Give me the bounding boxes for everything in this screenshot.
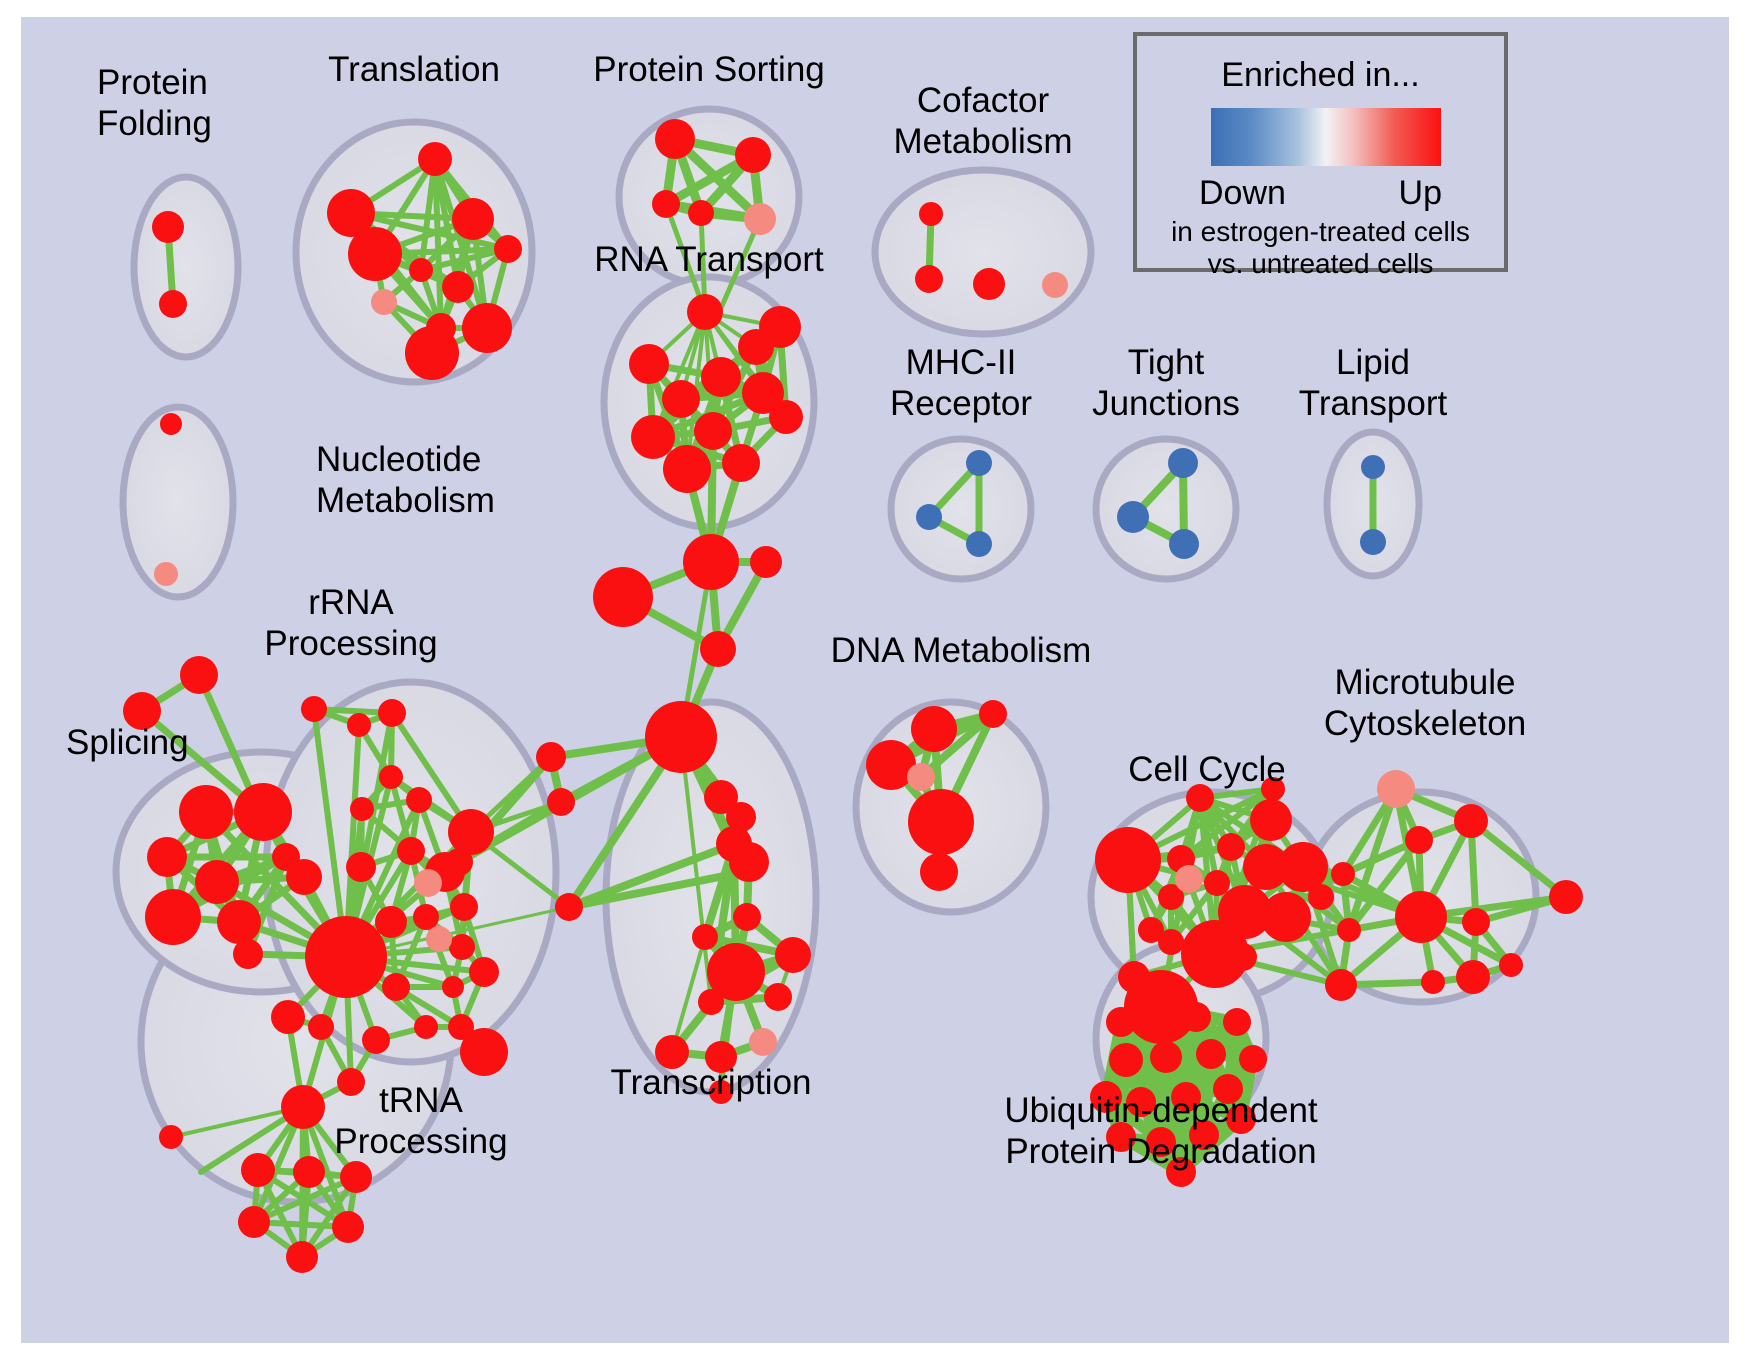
node bbox=[694, 412, 732, 450]
cluster-label-microtubule-cytoskeleton: Microtubule Cytoskeleton bbox=[1324, 662, 1526, 744]
node bbox=[631, 415, 675, 459]
cluster-label-transcription: Transcription bbox=[611, 1062, 812, 1103]
node bbox=[698, 989, 724, 1015]
node bbox=[722, 444, 760, 482]
node bbox=[1308, 884, 1334, 910]
cluster-ellipse-protein-folding bbox=[134, 177, 238, 357]
node bbox=[908, 789, 974, 855]
node bbox=[735, 137, 771, 173]
node bbox=[414, 869, 442, 897]
node bbox=[1261, 892, 1311, 942]
node bbox=[915, 265, 943, 293]
node bbox=[701, 357, 741, 397]
node bbox=[1325, 969, 1357, 1001]
node bbox=[179, 785, 233, 839]
node bbox=[414, 1015, 438, 1039]
node bbox=[1456, 960, 1490, 994]
node bbox=[1395, 891, 1447, 943]
cluster-ellipse-mhc-ii-receptor bbox=[891, 439, 1031, 579]
node bbox=[305, 916, 387, 998]
node bbox=[1360, 529, 1386, 555]
node bbox=[1117, 501, 1149, 533]
node bbox=[301, 696, 327, 722]
node bbox=[919, 202, 943, 226]
node bbox=[733, 903, 761, 931]
node bbox=[160, 413, 182, 435]
node bbox=[426, 926, 452, 952]
node bbox=[362, 1026, 390, 1054]
node bbox=[450, 893, 478, 921]
node bbox=[775, 937, 811, 973]
node bbox=[405, 326, 459, 380]
node bbox=[688, 200, 714, 226]
node bbox=[1250, 799, 1292, 841]
node bbox=[159, 1125, 183, 1149]
node bbox=[700, 631, 736, 667]
legend-down-label: Down bbox=[1199, 174, 1286, 213]
node bbox=[1106, 1007, 1136, 1037]
node bbox=[1549, 880, 1583, 914]
node bbox=[1361, 455, 1385, 479]
node bbox=[348, 227, 402, 281]
node bbox=[687, 294, 723, 330]
node bbox=[1499, 953, 1523, 977]
node bbox=[749, 1028, 777, 1056]
node bbox=[418, 142, 452, 176]
node bbox=[332, 1211, 364, 1243]
cluster-label-dna-metabolism: DNA Metabolism bbox=[831, 630, 1092, 671]
node bbox=[907, 763, 935, 791]
node bbox=[442, 271, 474, 303]
node bbox=[1405, 826, 1433, 854]
figure-canvas: Protein Folding Translation Protein Sort… bbox=[0, 0, 1750, 1360]
cluster-label-protein-folding: Protein Folding bbox=[97, 62, 212, 144]
cluster-label-mhc-ii-receptor: MHC-II Receptor bbox=[890, 342, 1032, 424]
cluster-label-lipid-transport: Lipid Transport bbox=[1299, 342, 1447, 424]
node bbox=[375, 906, 407, 938]
node bbox=[916, 504, 942, 530]
legend-subtitle-line2: vs. untreated cells bbox=[1137, 248, 1504, 280]
node bbox=[1462, 908, 1490, 936]
network-plot-area: Protein Folding Translation Protein Sort… bbox=[21, 17, 1729, 1343]
legend-box: Enriched in... Down Up in estrogen-treat… bbox=[1133, 32, 1508, 272]
node bbox=[347, 713, 371, 737]
node bbox=[469, 957, 499, 987]
node bbox=[1150, 1041, 1182, 1073]
node bbox=[536, 742, 566, 772]
cluster-label-nucleotide-metabolism: Nucleotide Metabolism bbox=[316, 439, 495, 521]
node bbox=[286, 859, 322, 895]
node bbox=[233, 939, 263, 969]
cluster-label-tight-junctions: Tight Junctions bbox=[1092, 342, 1240, 424]
node bbox=[413, 904, 439, 930]
node bbox=[1175, 865, 1203, 893]
node bbox=[1377, 770, 1415, 808]
node bbox=[462, 303, 512, 353]
node bbox=[1196, 1039, 1226, 1069]
node bbox=[409, 258, 433, 282]
node bbox=[555, 893, 583, 921]
node bbox=[966, 531, 992, 557]
node bbox=[593, 567, 653, 627]
node bbox=[346, 852, 376, 882]
node bbox=[744, 203, 776, 235]
node bbox=[738, 329, 774, 365]
cluster-label-ubiquitin-protein-degradation: Ubiquitin-dependent Protein Degradation bbox=[1004, 1090, 1317, 1172]
node bbox=[371, 289, 397, 315]
node bbox=[911, 706, 957, 752]
node bbox=[645, 701, 717, 773]
node bbox=[452, 198, 494, 240]
node bbox=[1239, 1045, 1267, 1073]
node bbox=[340, 1161, 372, 1193]
node bbox=[281, 1085, 325, 1129]
node bbox=[979, 700, 1007, 728]
node bbox=[729, 842, 769, 882]
node bbox=[378, 699, 406, 727]
node bbox=[973, 268, 1005, 300]
node bbox=[271, 1000, 305, 1034]
node bbox=[382, 973, 410, 1001]
cluster-ellipse-cofactor-metabolism bbox=[875, 170, 1091, 334]
node bbox=[241, 1153, 275, 1187]
node bbox=[1109, 1043, 1143, 1077]
node bbox=[308, 1014, 334, 1040]
node bbox=[1169, 529, 1199, 559]
node bbox=[145, 889, 201, 945]
node bbox=[1229, 943, 1257, 971]
node bbox=[1331, 862, 1355, 886]
node bbox=[217, 900, 261, 944]
node bbox=[445, 848, 473, 876]
node bbox=[180, 656, 218, 694]
node bbox=[147, 837, 187, 877]
node bbox=[683, 534, 739, 590]
node bbox=[379, 765, 403, 789]
cluster-label-rrna-processing: rRNA Processing bbox=[264, 582, 437, 664]
node bbox=[655, 119, 695, 159]
node bbox=[764, 983, 792, 1011]
cluster-label-cofactor-metabolism: Cofactor Metabolism bbox=[894, 80, 1073, 162]
node bbox=[769, 400, 803, 434]
cluster-label-protein-sorting: Protein Sorting bbox=[593, 49, 825, 90]
node bbox=[1158, 929, 1184, 955]
node bbox=[494, 235, 522, 263]
cluster-ellipse-nucleotide-metabolism bbox=[123, 407, 233, 597]
node bbox=[1421, 970, 1445, 994]
legend-up-label: Up bbox=[1399, 174, 1442, 213]
node bbox=[662, 380, 700, 418]
node bbox=[692, 924, 718, 950]
node bbox=[195, 860, 239, 904]
legend-subtitle-line1: in estrogen-treated cells bbox=[1137, 216, 1504, 248]
node bbox=[1454, 804, 1488, 838]
node bbox=[966, 450, 992, 476]
node bbox=[663, 445, 711, 493]
node bbox=[350, 797, 374, 821]
node bbox=[406, 787, 432, 813]
node bbox=[920, 853, 958, 891]
node bbox=[1042, 272, 1068, 298]
cluster-label-rna-transport: RNA Transport bbox=[594, 239, 824, 280]
node bbox=[397, 837, 425, 865]
node bbox=[159, 290, 187, 318]
node bbox=[286, 1241, 318, 1273]
node bbox=[547, 788, 575, 816]
cluster-label-cell-cycle: Cell Cycle bbox=[1128, 749, 1286, 790]
node bbox=[234, 783, 292, 841]
node bbox=[1168, 448, 1198, 478]
node bbox=[238, 1206, 270, 1238]
node bbox=[448, 809, 494, 855]
node bbox=[460, 1028, 508, 1076]
legend-color-gradient-bar bbox=[1211, 108, 1441, 166]
node bbox=[1337, 918, 1361, 942]
node bbox=[629, 344, 669, 384]
cluster-ellipse-tight-junctions bbox=[1096, 439, 1236, 579]
cluster-label-trna-processing: tRNA Processing bbox=[334, 1080, 507, 1162]
node bbox=[1204, 870, 1230, 896]
node bbox=[442, 976, 464, 998]
node bbox=[154, 562, 178, 586]
node bbox=[1223, 1008, 1251, 1036]
node bbox=[1181, 1002, 1211, 1032]
node bbox=[1095, 827, 1161, 893]
node bbox=[449, 934, 475, 960]
node bbox=[1217, 833, 1245, 861]
node bbox=[293, 1156, 325, 1188]
node bbox=[750, 546, 782, 578]
node bbox=[152, 211, 184, 243]
node bbox=[652, 190, 680, 218]
legend-title: Enriched in... bbox=[1137, 56, 1504, 95]
cluster-label-translation: Translation bbox=[328, 49, 500, 90]
cluster-label-splicing: Splicing bbox=[66, 722, 189, 763]
